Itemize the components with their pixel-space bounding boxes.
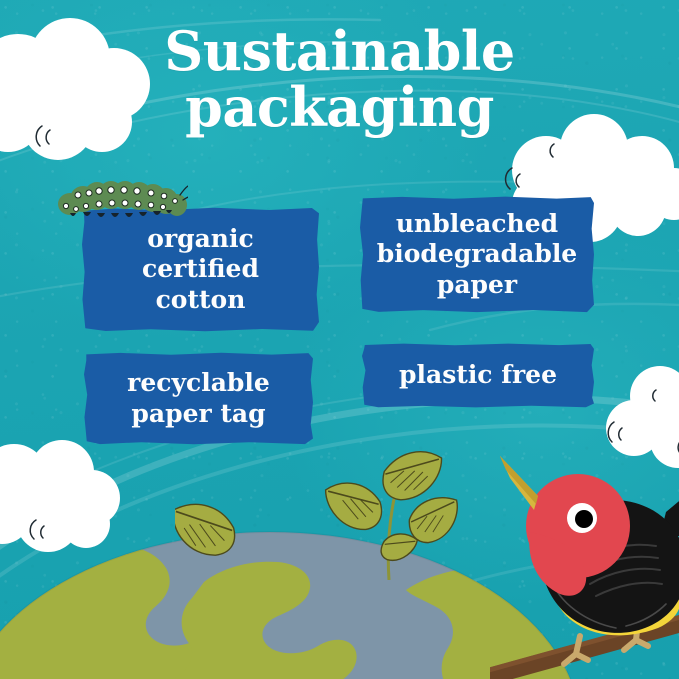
tag-line-1: organic	[142, 224, 259, 255]
tag-line-1: recyclable	[127, 368, 270, 399]
tag-plastic-free[interactable]: plastic free	[362, 343, 594, 408]
tag-unbleached-biodegradable-paper[interactable]: unbleached biodegradable paper	[360, 196, 594, 313]
tag-label: recyclable paper tag	[119, 368, 278, 429]
caterpillar-icon	[56, 176, 188, 228]
bird-icon	[490, 440, 679, 679]
cloud-icon	[0, 18, 164, 158]
sustainable-packaging-poster: Sustainable packaging organic certified …	[0, 0, 679, 679]
tag-label: plastic free	[391, 360, 565, 391]
tag-recyclable-paper-tag[interactable]: recyclable paper tag	[84, 352, 313, 445]
tag-label: organic certified cotton	[134, 224, 267, 316]
tag-line-2: paper tag	[127, 399, 270, 430]
tag-line-3: paper	[377, 270, 577, 301]
tag-line-2: biodegradable	[377, 239, 577, 270]
tag-line-3: cotton	[142, 285, 259, 316]
cloud-icon	[0, 430, 128, 560]
tag-line-2: certified	[142, 254, 259, 285]
tag-line-1: plastic free	[399, 360, 557, 391]
tag-label: unbleached biodegradable paper	[369, 209, 585, 301]
sprout-leaves-icon	[175, 430, 465, 584]
tag-line-1: unbleached	[377, 209, 577, 240]
